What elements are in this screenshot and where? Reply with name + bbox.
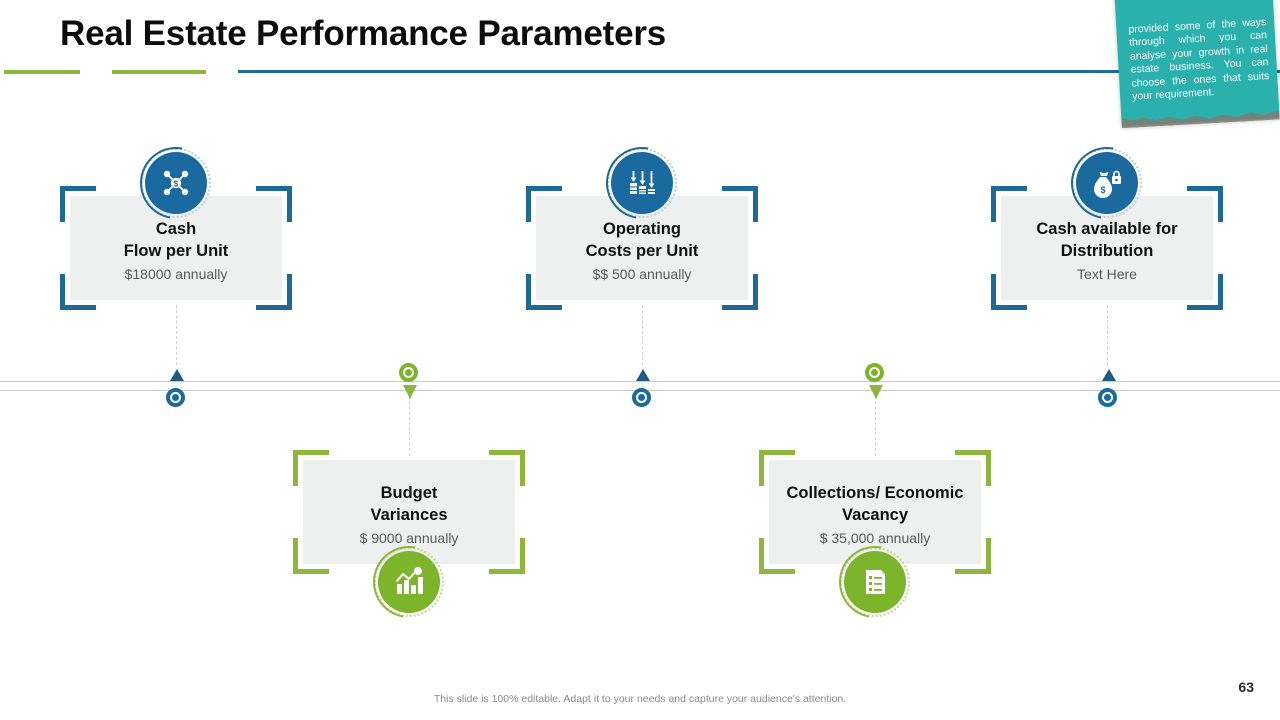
- checklist-document-icon: [844, 551, 906, 613]
- connector-card-3: [1107, 305, 1108, 365]
- bar-chart-growth-icon: [378, 551, 440, 613]
- sticky-note: provided some of the ways through which …: [1114, 0, 1279, 126]
- page-number: 63: [1238, 679, 1254, 695]
- card-title-line2: Costs per Unit: [544, 240, 740, 262]
- marker-dot-icon: [399, 363, 418, 382]
- marker-triangle-icon: [170, 369, 184, 381]
- marker-dot-icon: [166, 388, 185, 407]
- card-subtitle: Text Here: [1009, 265, 1205, 283]
- marker-dot-icon: [865, 363, 884, 382]
- timeline-marker-4[interactable]: [865, 363, 887, 407]
- timeline-marker-3[interactable]: [632, 365, 654, 409]
- marker-dot-icon: [632, 388, 651, 407]
- money-bag-lock-icon: $: [1076, 152, 1138, 214]
- bracket-top-left: [293, 450, 329, 486]
- card-title-line2: Variances: [311, 504, 507, 526]
- svg-text:$: $: [174, 179, 179, 188]
- declining-bars-icon: [611, 152, 673, 214]
- card-text-block: Cash available for Distribution Text Her…: [1009, 218, 1205, 283]
- timeline-marker-2[interactable]: [399, 363, 421, 407]
- bracket-top-left: [759, 450, 795, 486]
- card-title-line2: Flow per Unit: [78, 240, 274, 262]
- marker-triangle-icon: [636, 369, 650, 381]
- timeline-marker-5[interactable]: [1098, 365, 1120, 409]
- card-subtitle: $ 9000 annually: [311, 529, 507, 547]
- connector-card-2: [642, 305, 643, 365]
- page-title: Real Estate Performance Parameters: [60, 14, 666, 54]
- marker-dot-icon: [1098, 388, 1117, 407]
- badge-disc: $: [1076, 152, 1138, 214]
- card-subtitle: $$ 500 annually: [544, 265, 740, 283]
- card-title-line1: Collections/ Economic: [777, 482, 973, 504]
- card-text-block: Cash Flow per Unit $18000 annually: [78, 218, 274, 283]
- card-title-line1: Operating: [544, 218, 740, 240]
- badge-disc: [378, 551, 440, 613]
- bracket-top-left: [526, 186, 562, 222]
- bracket-top-left: [60, 186, 96, 222]
- card-text-block: Operating Costs per Unit $$ 500 annually: [544, 218, 740, 283]
- card-title-line1: Cash available for: [1009, 218, 1205, 240]
- marker-triangle-icon: [403, 385, 417, 399]
- bracket-top-right: [955, 450, 991, 486]
- marker-triangle-icon: [869, 385, 883, 399]
- bracket-top-right: [489, 450, 525, 486]
- bracket-top-right: [722, 186, 758, 222]
- bracket-top-left: [991, 186, 1027, 222]
- slide-canvas: Real Estate Performance Parameters provi…: [0, 0, 1280, 720]
- badge-disc: [611, 152, 673, 214]
- connector-card-1: [176, 305, 177, 365]
- footer-note: This slide is 100% editable. Adapt it to…: [0, 693, 1280, 705]
- card-subtitle: $18000 annually: [78, 265, 274, 283]
- money-network-icon: $: [145, 152, 207, 214]
- card-title-line2: Vacancy: [777, 504, 973, 526]
- badge-disc: $: [145, 152, 207, 214]
- card-text-block: Collections/ Economic Vacancy $ 35,000 a…: [777, 482, 973, 547]
- badge-disc: [844, 551, 906, 613]
- title-rule-green-left: [4, 70, 80, 74]
- bracket-top-right: [256, 186, 292, 222]
- bracket-top-right: [1187, 186, 1223, 222]
- card-title-line1: Cash: [78, 218, 274, 240]
- card-subtitle: $ 35,000 annually: [777, 529, 973, 547]
- card-text-block: Budget Variances $ 9000 annually: [311, 482, 507, 547]
- svg-text:$: $: [1100, 185, 1105, 195]
- timeline-marker-1[interactable]: [166, 365, 188, 409]
- sticky-note-text: provided some of the ways through which …: [1128, 16, 1270, 104]
- sticky-note-torn-edge: [1121, 104, 1280, 129]
- title-rule-green-right: [112, 70, 206, 74]
- card-title-line1: Budget: [311, 482, 507, 504]
- card-title-line2: Distribution: [1009, 240, 1205, 262]
- marker-triangle-icon: [1102, 369, 1116, 381]
